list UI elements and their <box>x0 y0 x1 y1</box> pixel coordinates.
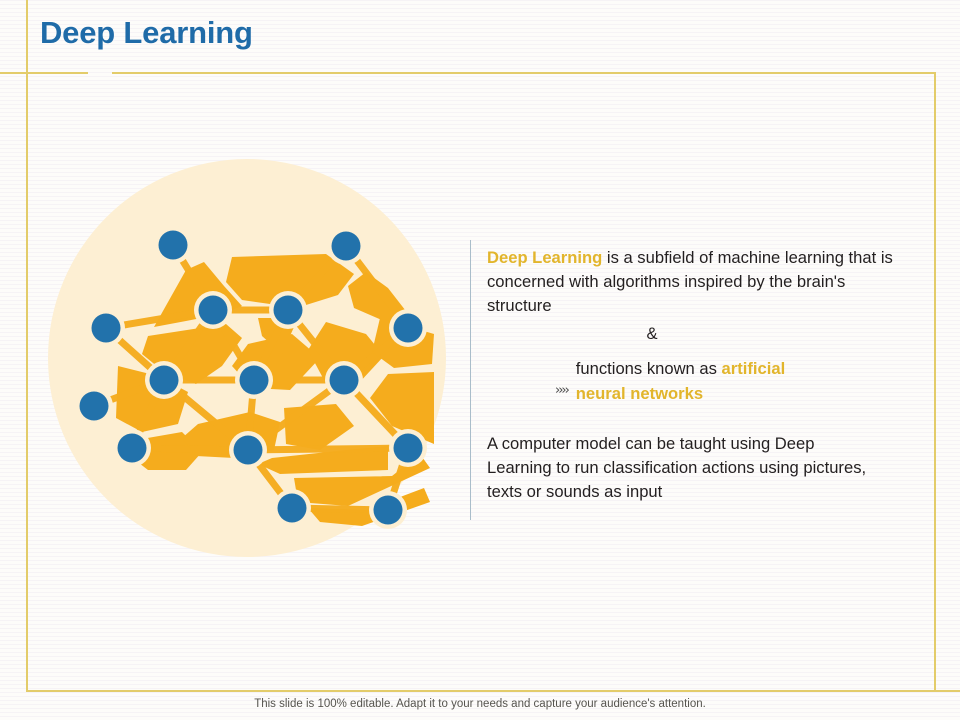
slide-canvas: Deep Learning <box>0 0 960 720</box>
frame-rule-left <box>26 0 28 691</box>
frame-rule-top-stub <box>0 72 88 74</box>
neural-network-brain-icon <box>36 158 460 558</box>
ampersand-separator: & <box>487 324 817 344</box>
content-divider <box>470 240 471 520</box>
chevrons-right-icon: ›››› <box>555 379 568 403</box>
footer-note: This slide is 100% editable. Adapt it to… <box>0 698 960 710</box>
intro-highlight: Deep Learning <box>487 248 602 267</box>
page-title: Deep Learning <box>40 15 253 51</box>
frame-rule-right <box>934 72 936 691</box>
frame-rule-top <box>112 72 936 74</box>
functions-lead: functions known as <box>576 359 722 378</box>
model-paragraph: A computer model can be taught using Dee… <box>487 432 879 504</box>
functions-row: ›››› functions known as artificial neura… <box>487 356 907 406</box>
intro-paragraph: Deep Learning is a subfield of machine l… <box>487 246 895 318</box>
content-column: Deep Learning is a subfield of machine l… <box>487 246 907 504</box>
functions-text: functions known as artificial neural net… <box>576 356 826 406</box>
frame-rule-bottom <box>26 690 960 692</box>
